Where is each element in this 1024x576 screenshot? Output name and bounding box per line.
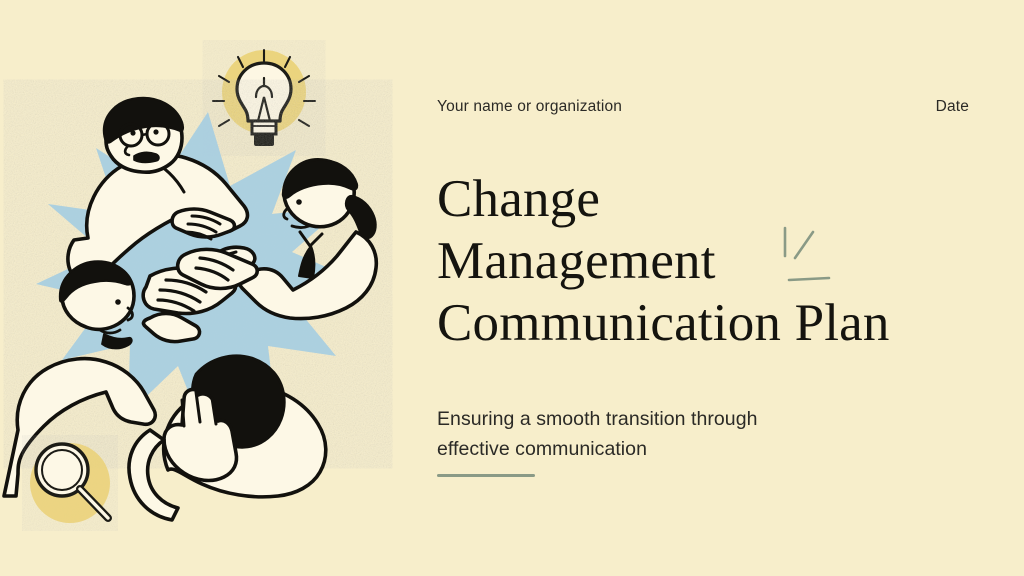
slide-subtitle: Ensuring a smooth transition through eff…	[437, 404, 867, 477]
slide-content: Your name or organization Date Change Ma…	[437, 0, 977, 576]
lightbulb-icon	[213, 50, 315, 146]
team-hands-together-illustration	[0, 0, 420, 576]
subtitle-line-1: Ensuring a smooth transition through	[437, 404, 867, 434]
subtitle-underline	[437, 474, 535, 477]
presentation-slide: Your name or organization Date Change Ma…	[0, 0, 1024, 576]
title-line-2: Management	[437, 230, 997, 292]
title-line-3: Communication Plan	[437, 292, 997, 354]
subtitle-line-2: effective communication	[437, 434, 867, 464]
title-line-1: Change	[437, 168, 997, 230]
organization-label: Your name or organization	[437, 98, 622, 116]
date-label: Date	[936, 98, 969, 116]
slide-meta-row: Your name or organization Date	[437, 98, 969, 116]
magnifying-glass-icon	[30, 443, 110, 523]
page-title: Change Management Communication Plan	[437, 168, 997, 354]
